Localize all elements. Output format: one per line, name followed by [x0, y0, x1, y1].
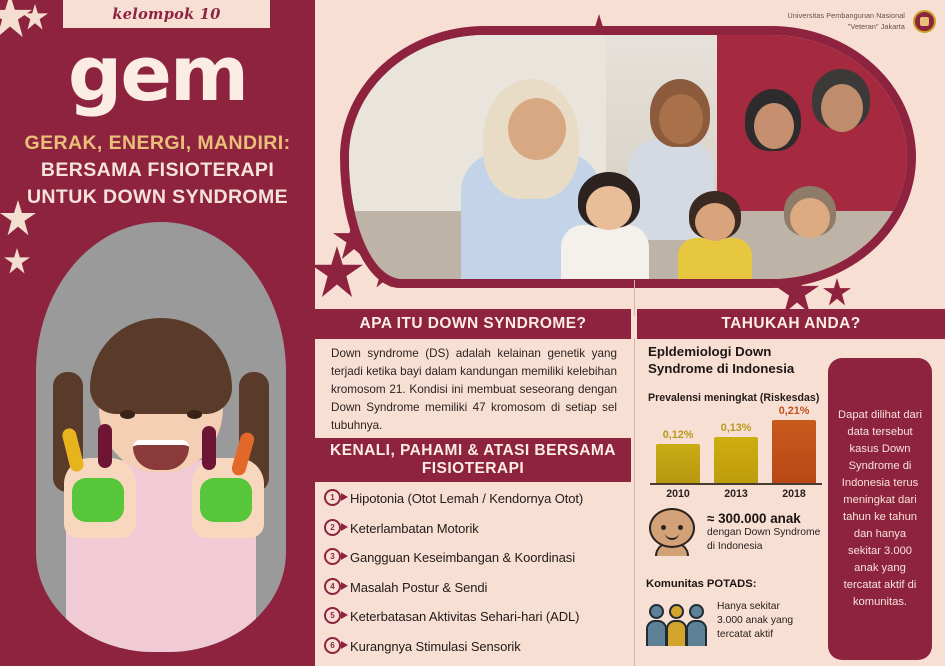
prevalence-bar-chart: 0,12% 0,13% 0,21% 2010 2013 2018 — [650, 406, 822, 498]
finger-maroon — [98, 424, 112, 468]
potads-line2: 3.000 anak yang — [717, 614, 793, 628]
arrow-icon — [341, 552, 348, 560]
list-badge-number: 3 — [324, 548, 341, 565]
list-item[interactable]: 5 Keterbatasan Aktivitas Sehari-hari (AD… — [318, 602, 630, 632]
photo-child-body — [561, 225, 649, 279]
section-header-tahukah-label: TAHUKAH ANDA? — [721, 315, 860, 333]
list-item[interactable]: 2 Keterlambatan Motorik — [318, 514, 630, 544]
arrow-icon — [341, 582, 348, 590]
kenali-list: 1 Hipotonia (Otot Lemah / Kendornya Otot… — [318, 484, 630, 661]
list-badge: 6 — [324, 637, 343, 656]
list-item-label: Keterlambatan Motorik — [350, 521, 479, 536]
list-badge: 3 — [324, 548, 343, 567]
photo-person-face — [659, 94, 703, 144]
green-paint — [200, 478, 252, 522]
bar-value-label: 0,13% — [721, 422, 752, 434]
person-icon — [686, 604, 707, 646]
section-header-kenali-line1: KENALI, PAHAMI & ATASI BERSAMA — [330, 442, 616, 460]
bar-value-label: 0,12% — [663, 429, 694, 441]
people-group-icon — [646, 596, 708, 646]
painted-hand-right — [192, 458, 264, 538]
baby-stat-desc1: dengan Down Syndrome — [707, 526, 820, 540]
child-photo — [36, 222, 286, 652]
tagline-line3: UNTUK DOWN SYNDROME — [0, 184, 315, 211]
potads-text: Hanya sekitar 3.000 anak yang tercatat a… — [717, 600, 793, 641]
list-badge-number: 1 — [324, 489, 341, 506]
bar-group: 0,21% — [772, 405, 816, 484]
bar — [772, 420, 816, 484]
infographic-poster: kelompok 10 gem GERAK, ENERGI, MANDIRI: … — [0, 0, 945, 666]
university-name-line1: Universitas Pembangunan Nasional — [788, 11, 905, 22]
x-tick-label: 2018 — [772, 488, 816, 500]
section-header-kenali: KENALI, PAHAMI & ATASI BERSAMA FISIOTERA… — [315, 438, 631, 482]
column-divider — [634, 280, 635, 316]
list-badge: 1 — [324, 489, 343, 508]
list-item-label: Keterbatasan Aktivitas Sehari-hari (ADL) — [350, 609, 579, 624]
list-item-label: Masalah Postur & Sendi — [350, 580, 487, 595]
list-item-label: Kurangnya Stimulasi Sensorik — [350, 639, 521, 654]
baby-stat-text: ≈ 300.000 anak dengan Down Syndrome di I… — [707, 511, 820, 553]
komunitas-label: Komunitas POTADS: — [646, 578, 756, 590]
bar-group: 0,13% — [714, 422, 758, 484]
person-body — [666, 620, 687, 646]
person-icon-highlight — [666, 604, 687, 646]
kelompok-label: kelompok 10 — [112, 6, 220, 23]
chart-bars: 0,12% 0,13% 0,21% — [650, 414, 822, 484]
baby-head — [649, 508, 695, 548]
left-panel: kelompok 10 gem GERAK, ENERGI, MANDIRI: … — [0, 0, 315, 666]
photo-person-face — [754, 103, 794, 149]
child-illustration — [36, 222, 286, 652]
tagline-block: GERAK, ENERGI, MANDIRI: BERSAMA FISIOTER… — [0, 130, 315, 211]
painted-hand-left — [64, 458, 136, 538]
photo-person-face — [508, 98, 566, 160]
section-header-kenali-line2: FISIOTERAPI — [422, 460, 524, 478]
finger-maroon — [202, 426, 216, 470]
list-badge: 2 — [324, 519, 343, 538]
list-item[interactable]: 6 Kurangnya Stimulasi Sensorik — [318, 632, 630, 662]
chart-title-line2: Syndrome di Indonesia — [648, 361, 824, 378]
photo-person-face — [821, 84, 863, 132]
gem-logo: gem — [0, 36, 315, 112]
list-item[interactable]: 4 Masalah Postur & Sendi — [318, 573, 630, 603]
group-photo-image — [349, 35, 907, 279]
tagline-line2: BERSAMA FISIOTERAPI — [0, 157, 315, 184]
person-head — [669, 604, 684, 619]
star-decor — [22, 4, 48, 30]
chart-x-labels: 2010 2013 2018 — [650, 488, 822, 500]
star-decor — [4, 248, 30, 274]
star-decor — [823, 278, 851, 306]
list-item-label: Gangguan Keseimbangan & Koordinasi — [350, 550, 575, 565]
section-header-apa-itu-label: APA ITU DOWN SYNDROME? — [360, 315, 587, 333]
person-head — [689, 604, 704, 619]
bar-value-label: 0,21% — [779, 405, 810, 417]
down-syndrome-definition: Down syndrome (DS) adalah kelainan genet… — [318, 338, 630, 438]
list-badge-number: 5 — [324, 607, 341, 624]
chart-subtitle: Prevalensi meningkat (Riskesdas) — [648, 392, 828, 404]
star-decor — [0, 0, 32, 38]
chart-title-line1: Epldemiologi Down — [648, 344, 824, 361]
section-header-apa-itu: APA ITU DOWN SYNDROME? — [315, 309, 631, 339]
potads-line1: Hanya sekitar — [717, 600, 793, 614]
photo-child-body — [678, 238, 752, 279]
person-body — [686, 620, 707, 646]
person-body — [646, 620, 667, 646]
list-badge: 5 — [324, 607, 343, 626]
bar — [714, 437, 758, 484]
group-photo — [340, 26, 916, 288]
kelompok-banner: kelompok 10 — [63, 0, 270, 28]
child-eye-left — [120, 410, 135, 419]
list-badge-number: 6 — [324, 637, 341, 654]
person-icon — [646, 604, 667, 646]
baby-icon — [646, 508, 698, 556]
green-paint — [72, 478, 124, 522]
list-item-label: Hipotonia (Otot Lemah / Kendornya Otot) — [350, 491, 583, 506]
x-tick-label: 2013 — [714, 488, 758, 500]
university-logo-icon — [913, 10, 936, 33]
baby-stat: ≈ 300.000 anak dengan Down Syndrome di I… — [646, 508, 826, 556]
column-divider — [634, 338, 635, 666]
x-tick-label: 2010 — [656, 488, 700, 500]
baby-eye-right — [678, 525, 683, 530]
child-eye-right — [187, 410, 202, 419]
bar-group: 0,12% — [656, 429, 700, 484]
chart-axis — [650, 483, 822, 485]
baby-eye-left — [661, 525, 666, 530]
potads-stat: Hanya sekitar 3.000 anak yang tercatat a… — [646, 596, 826, 646]
section-header-tahukah: TAHUKAH ANDA? — [637, 309, 945, 339]
arrow-icon — [341, 611, 348, 619]
arrow-icon — [341, 523, 348, 531]
person-head — [649, 604, 664, 619]
list-badge-number: 4 — [324, 578, 341, 595]
baby-stat-desc2: di Indonesia — [707, 540, 820, 554]
list-item[interactable]: 1 Hipotonia (Otot Lemah / Kendornya Otot… — [318, 484, 630, 514]
arrow-icon — [341, 641, 348, 649]
chart-title: Epldemiologi Down Syndrome di Indonesia — [648, 344, 824, 377]
conclusion-note-text: Dapat dilihat dari data tersebut kasus D… — [836, 407, 924, 611]
potads-line3: tercatat aktif — [717, 628, 793, 642]
bar — [656, 444, 700, 484]
baby-stat-number: ≈ 300.000 anak — [707, 511, 820, 526]
arrow-icon — [341, 493, 348, 501]
list-badge: 4 — [324, 578, 343, 597]
child-hair — [90, 318, 232, 414]
tagline-line1: GERAK, ENERGI, MANDIRI: — [0, 130, 315, 157]
list-item[interactable]: 3 Gangguan Keseimbangan & Koordinasi — [318, 543, 630, 573]
conclusion-note-box: Dapat dilihat dari data tersebut kasus D… — [828, 358, 932, 660]
list-badge-number: 2 — [324, 519, 341, 536]
